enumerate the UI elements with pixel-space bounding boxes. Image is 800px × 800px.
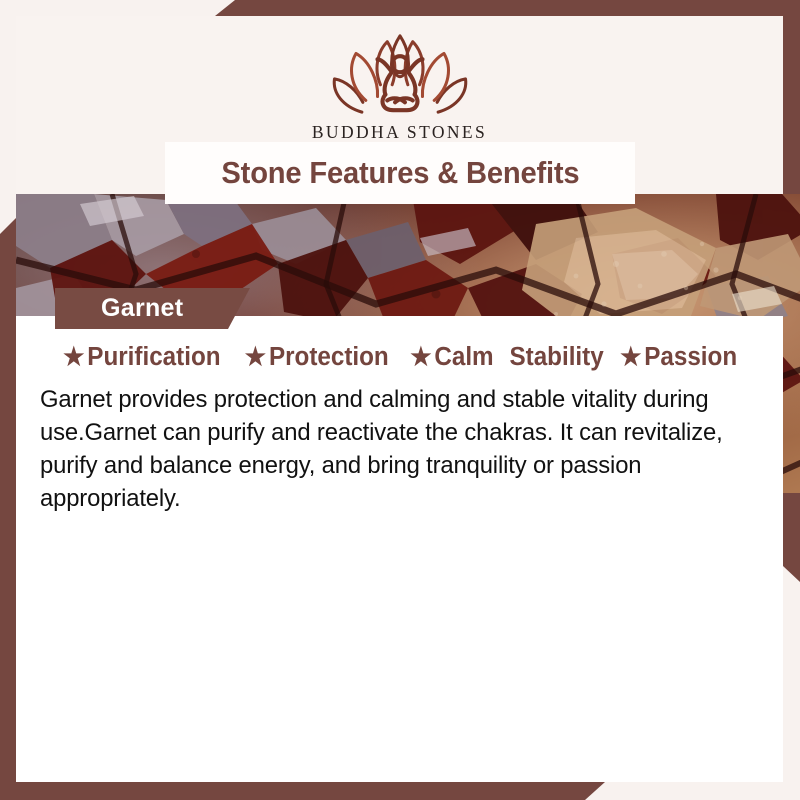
benefit-label: Passion: [644, 343, 737, 372]
star-icon: ★: [620, 345, 641, 370]
benefit-purification: ★ Purification: [63, 343, 220, 372]
content-body: ★ Purification ★ Protection ★ Calm Stabi…: [16, 316, 783, 782]
stone-name: Garnet: [101, 294, 183, 323]
title-ribbon: Stone Features & Benefits: [165, 142, 635, 204]
benefit-label: Stability: [509, 343, 603, 372]
benefit-label: Purification: [87, 343, 220, 372]
benefits-row: ★ Purification ★ Protection ★ Calm Stabi…: [16, 343, 783, 372]
frame-bar-top: [215, 0, 800, 16]
frame-bar-left: [0, 218, 16, 800]
benefit-label: Protection: [269, 343, 389, 372]
benefit-passion: ★ Passion: [620, 343, 737, 372]
frame-bar-bottom: [0, 782, 605, 800]
page-title: Stone Features & Benefits: [221, 155, 579, 191]
benefit-protection: ★ Protection: [245, 343, 389, 372]
benefit-calm: ★ Calm: [410, 343, 493, 372]
star-icon: ★: [63, 345, 84, 370]
content-card: BUDDHA STONES: [16, 16, 783, 782]
stone-name-tag: Garnet: [55, 288, 250, 329]
benefit-stability: Stability: [509, 343, 603, 372]
poster-canvas: BUDDHA STONES: [0, 0, 800, 800]
benefit-label: Calm: [434, 343, 493, 372]
star-icon: ★: [245, 345, 266, 370]
stone-description: Garnet provides protection and calming a…: [40, 384, 751, 516]
lotus-meditation-icon: [325, 30, 475, 118]
brand-name: BUDDHA STONES: [312, 122, 487, 143]
star-icon: ★: [410, 345, 431, 370]
